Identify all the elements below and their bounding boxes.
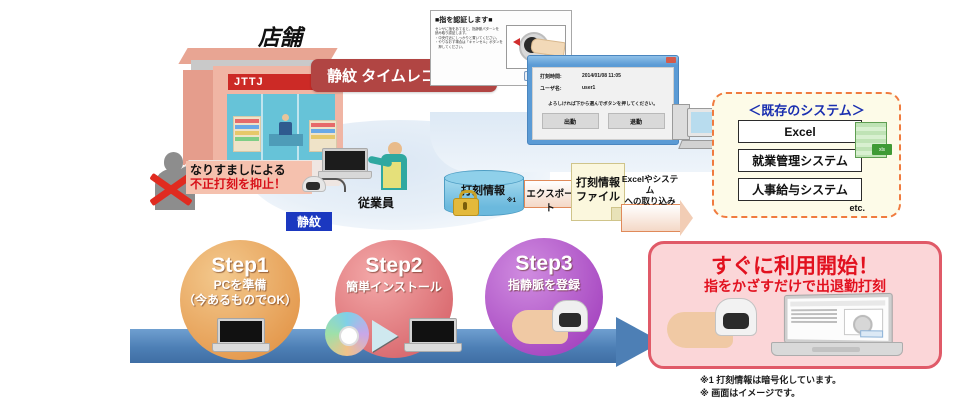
auth-line: 押してください。 bbox=[435, 45, 507, 49]
employee-laptop bbox=[318, 148, 370, 180]
footnotes: ※1 打刻情報は暗号化しています。 ※ 画面はイメージです。 bbox=[700, 374, 841, 400]
footnote-1: ※1 打刻情報は暗号化しています。 bbox=[700, 374, 841, 387]
step-1-desc-line1: PCを準備 bbox=[214, 278, 267, 292]
installer-cd-icon bbox=[325, 312, 369, 356]
punch-buttons: 出勤 退勤 bbox=[533, 113, 673, 129]
result-subline: 指をかざすだけで出退勤打刻 bbox=[651, 276, 939, 296]
step-1-desc: PCを準備 （今あるものでOK） bbox=[180, 278, 300, 308]
field-user-name: ユーザ名: user1 bbox=[540, 85, 673, 92]
step-2-laptop bbox=[404, 318, 460, 352]
system-item-attendance: 就業管理システム bbox=[738, 149, 862, 172]
install-arrow-icon bbox=[372, 320, 398, 352]
step-2-desc: 簡単インストール bbox=[335, 280, 453, 295]
window-body: 打刻時間: 2014/01/08 11:05 ユーザ名: user1 よろしけれ… bbox=[532, 67, 674, 140]
store-shelf bbox=[233, 116, 261, 152]
window-titlebar bbox=[528, 56, 678, 65]
footnote-2: ※ 画面はイメージです。 bbox=[700, 387, 841, 400]
excel-extension-tag: xls bbox=[872, 144, 892, 155]
existing-systems-box: ＜既存のシステム＞ Excel 就業管理システム 人事給与システム etc. x… bbox=[712, 92, 901, 218]
export-label: エクスポート bbox=[522, 186, 578, 214]
employee-figure bbox=[374, 142, 410, 190]
spoofing-warning: なりすましによる 不正打刻を抑止！ bbox=[186, 161, 312, 194]
user-name-value: user1 bbox=[582, 85, 595, 92]
employee-label: 従業員 bbox=[358, 194, 394, 211]
import-arrow bbox=[621, 204, 681, 232]
import-label-line2: への取り込み bbox=[624, 196, 675, 206]
vein-sensor-device bbox=[302, 176, 324, 194]
field-punch-time: 打刻時間: 2014/01/08 11:05 bbox=[540, 73, 673, 80]
excel-file-icon: xls bbox=[855, 122, 887, 158]
import-label: Excelやシステム への取り込み bbox=[619, 174, 681, 207]
diagram-canvas: 店舗 JTTJ 静紋 タイムレコーダー ■指を認証します■ センサに指をあてると… bbox=[0, 0, 960, 420]
step-1-laptop bbox=[212, 318, 268, 352]
import-label-line1: Excelやシステム bbox=[622, 174, 678, 195]
user-name-label: ユーザ名: bbox=[540, 85, 582, 92]
auth-dialog-instructions: センサに指をあてると、指静脈パターンを 読み取り認証します。 ・中央付近にしっか… bbox=[435, 27, 507, 49]
existing-systems-title: ＜既存のシステム＞ bbox=[714, 100, 899, 119]
auth-dialog-title: ■指を認証します■ bbox=[435, 15, 571, 25]
close-icon[interactable] bbox=[666, 57, 676, 63]
result-laptop-illustration bbox=[771, 294, 901, 356]
auth-line: ・やりなおす場合は「キャンセル」ボタンを bbox=[435, 40, 507, 44]
clock-in-button[interactable]: 出勤 bbox=[542, 113, 599, 129]
step-2-number: Step2 bbox=[335, 254, 453, 278]
step-3-number: Step3 bbox=[485, 252, 603, 276]
window-guide-text: よろしければ下から選んでボタンを押してください。 bbox=[533, 101, 673, 107]
lock-icon bbox=[453, 190, 477, 214]
punch-time-value: 2014/01/08 11:05 bbox=[582, 73, 621, 80]
seimon-badge: 静紋 bbox=[286, 212, 332, 231]
store-clerk bbox=[279, 114, 292, 136]
file-label-line2: ファイル bbox=[576, 191, 620, 203]
system-item-excel: Excel bbox=[738, 120, 862, 143]
warning-line-2: 不正打刻を抑止！ bbox=[190, 177, 308, 191]
step-3-hand-scan bbox=[512, 296, 590, 358]
system-item-payroll: 人事給与システム bbox=[738, 178, 862, 201]
file-label-line1: 打刻情報 bbox=[576, 177, 620, 189]
timerecorder-window: 打刻時間: 2014/01/08 11:05 ユーザ名: user1 よろしけれ… bbox=[527, 55, 679, 145]
warning-line-1: なりすましによる bbox=[190, 163, 308, 177]
clock-out-button[interactable]: 退勤 bbox=[608, 113, 665, 129]
step-1-desc-line2: （今あるものでOK） bbox=[183, 293, 297, 307]
existing-systems-etc: etc. bbox=[849, 203, 865, 213]
database-footnote-ref: ※1 bbox=[507, 197, 516, 204]
result-callout: すぐに利用開始！ 指をかざすだけで出退勤打刻 bbox=[648, 241, 942, 369]
store-side-wall bbox=[183, 70, 215, 165]
step-1-number: Step1 bbox=[180, 254, 300, 278]
punch-data-file: 打刻情報 ファイル bbox=[571, 163, 625, 221]
step-3-desc: 指静脈を登録 bbox=[485, 278, 603, 293]
punch-time-label: 打刻時間: bbox=[540, 73, 582, 80]
result-hand-scan-illustration bbox=[667, 296, 763, 354]
